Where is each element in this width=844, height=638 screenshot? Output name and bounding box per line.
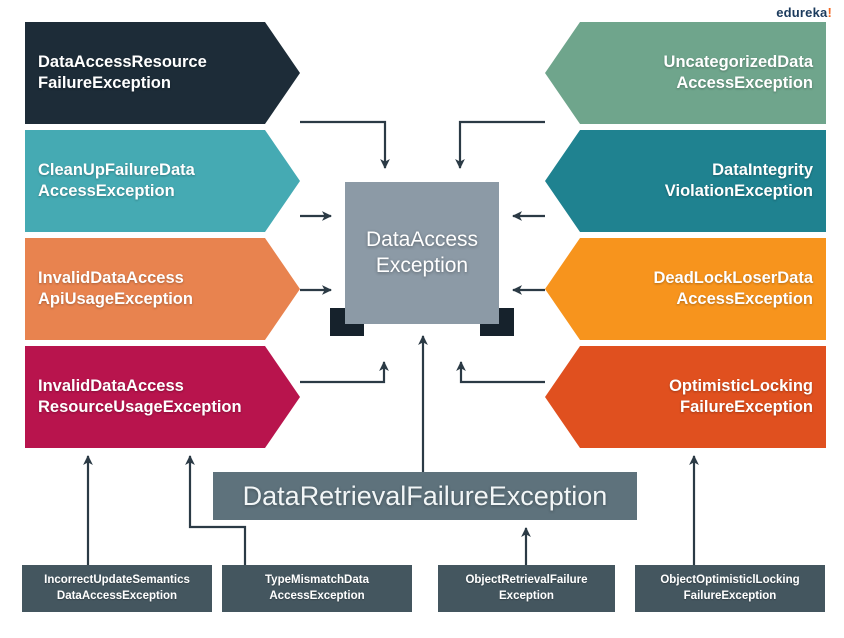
box-leaf-1[interactable] <box>222 565 412 612</box>
box-left-2[interactable] <box>25 238 300 340</box>
box-leaf-2[interactable] <box>438 565 615 612</box>
box-center[interactable] <box>345 182 499 324</box>
shapes-layer <box>0 0 844 638</box>
box-right-2[interactable] <box>545 238 826 340</box>
diagram-canvas: edureka! <box>0 0 844 638</box>
box-left-0[interactable] <box>25 22 300 124</box>
box-right-0[interactable] <box>545 22 826 124</box>
box-right-3[interactable] <box>545 346 826 448</box>
box-banner[interactable] <box>213 472 637 520</box>
box-leaf-0[interactable] <box>22 565 212 612</box>
box-right-1[interactable] <box>545 130 826 232</box>
box-left-3[interactable] <box>25 346 300 448</box>
box-leaf-3[interactable] <box>635 565 825 612</box>
box-left-1[interactable] <box>25 130 300 232</box>
